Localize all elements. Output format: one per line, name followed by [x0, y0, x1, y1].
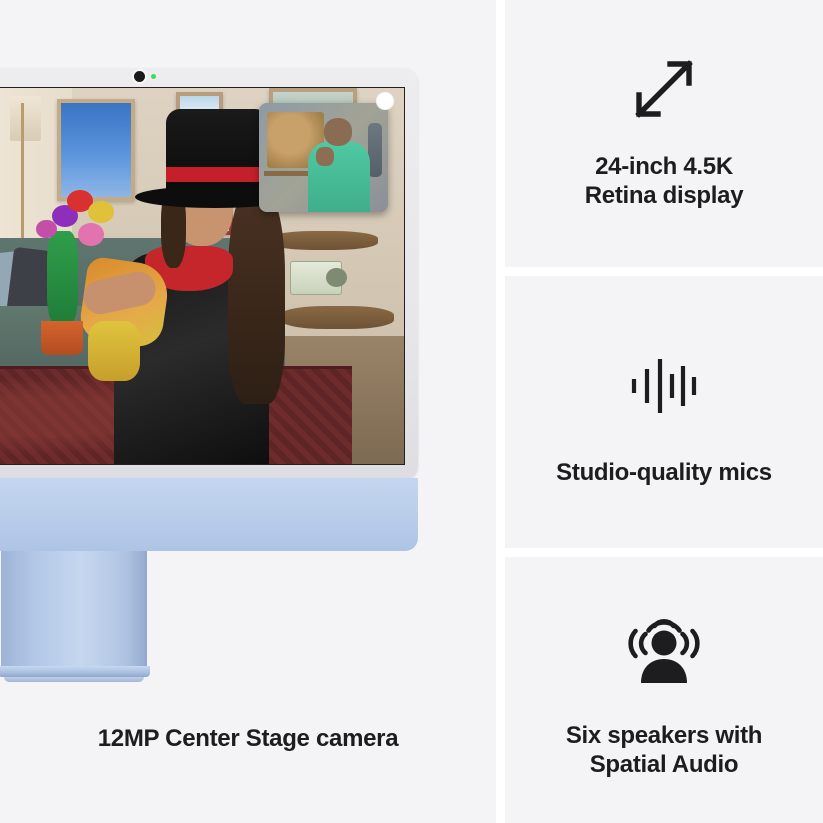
panel-spatial-audio: Six speakers with Spatial Audio [505, 557, 823, 823]
feature-label-line-1: Six speakers with [566, 721, 762, 750]
feature-studio-quality-mics: Studio-quality mics [505, 350, 823, 487]
scene-flower-magenta [36, 220, 57, 239]
imac-product-image [0, 68, 418, 682]
video-call-scene [0, 88, 404, 464]
scene-side-table-lower [280, 306, 394, 329]
scene-ceiling-light [376, 92, 394, 110]
spatial-audio-person-icon [621, 605, 707, 691]
feature-label-line-2: Spatial Audio [566, 750, 762, 779]
scene-artwork-blue [57, 99, 135, 201]
feature-label-line-1: 24-inch 4.5K [585, 152, 744, 181]
panel-retina-display: 24-inch 4.5K Retina display [505, 0, 823, 267]
imac-display-bezel [0, 68, 418, 480]
camera-lens-icon [134, 71, 145, 82]
expand-arrows-icon [627, 52, 701, 126]
scene-child-top-hat-band [166, 167, 270, 182]
panel-studio-quality-mics: Studio-quality mics [505, 276, 823, 548]
scene-child-hair [228, 186, 285, 404]
imac-screen [0, 87, 405, 465]
camera-caption: 12MP Center Stage camera [0, 725, 496, 753]
scene-child-scarf-tail [88, 321, 140, 381]
imac-stand-foot-lip [4, 677, 144, 682]
panel-camera: 12MP Center Stage camera [0, 0, 496, 823]
camera-indicator-led-icon [151, 74, 156, 79]
imac-stand-neck [1, 551, 147, 666]
feature-label-retina-display: 24-inch 4.5K Retina display [585, 152, 744, 211]
feature-spatial-audio: Six speakers with Spatial Audio [505, 605, 823, 780]
imac-camera-housing [134, 71, 156, 82]
pip-person-hand [316, 147, 334, 167]
scene-floor-lamp-shade [10, 96, 41, 141]
feature-retina-display: 24-inch 4.5K Retina display [505, 52, 823, 211]
feature-label-studio-quality-mics: Studio-quality mics [556, 458, 772, 487]
scene-plant-stem [47, 231, 78, 325]
feature-label-line-1: Studio-quality mics [556, 458, 772, 487]
video-call-pip-tile [259, 103, 389, 212]
feature-grid: 12MP Center Stage camera 24-inch 4.5K Re… [0, 0, 823, 823]
imac-chin [0, 478, 418, 551]
feature-label-line-2: Retina display [585, 181, 744, 210]
scene-flower-pot [41, 321, 82, 355]
scene-side-table-upper [269, 231, 378, 250]
scene-flower-pink [78, 223, 104, 246]
scene-flower-yellow [88, 201, 114, 224]
audio-waveform-icon [626, 350, 702, 422]
feature-label-spatial-audio: Six speakers with Spatial Audio [566, 721, 762, 780]
imac-stand-foot [0, 666, 150, 677]
pip-person-head [324, 118, 352, 145]
